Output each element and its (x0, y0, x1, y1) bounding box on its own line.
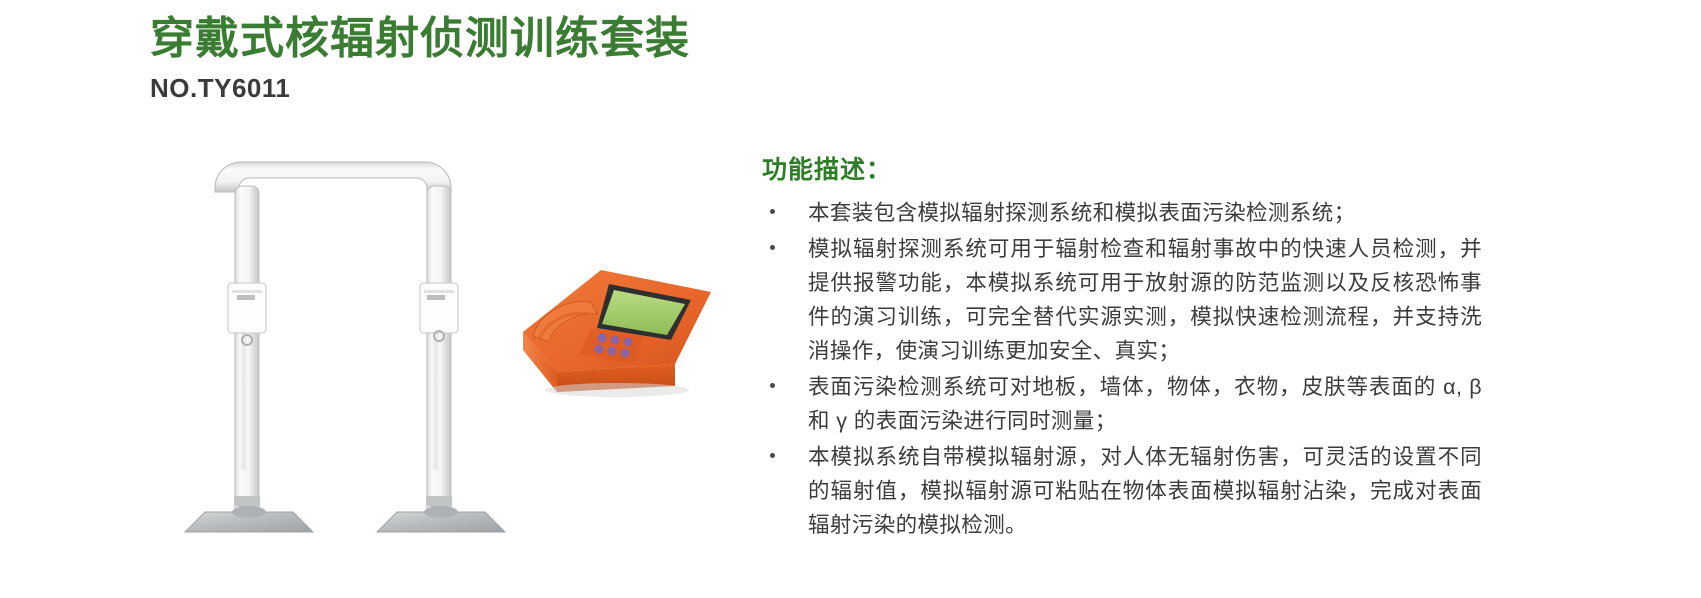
function-description-heading: 功能描述： (762, 150, 1482, 186)
gate-left-indicator (237, 295, 255, 300)
gate-left-base (185, 496, 313, 532)
list-item: 本套装包含模拟辐射探测系统和模拟表面污染检测系统； (762, 196, 1482, 230)
gate-left-pillar (235, 186, 259, 531)
gate-right-sensor-module (420, 283, 458, 333)
bullet-dot-icon (770, 383, 775, 388)
list-item: 模拟辐射探测系统可用于辐射检查和辐射事故中的快速人员检测，并提供报警功能，本模拟… (762, 232, 1482, 368)
function-description-block: 功能描述： 本套装包含模拟辐射探测系统和模拟表面污染检测系统； 模拟辐射探测系统… (762, 150, 1482, 544)
gate-right-pillar (427, 186, 451, 531)
gate-right-base (377, 496, 505, 532)
list-item-text: 本套装包含模拟辐射探测系统和模拟表面污染检测系统； (808, 201, 1356, 225)
list-item: 表面污染检测系统可对地板，墙体，物体，衣物，皮肤等表面的 α, β 和 γ 的表… (762, 370, 1482, 438)
list-item-text: 模拟辐射探测系统可用于辐射检查和辐射事故中的快速人员检测，并提供报警功能，本模拟… (808, 237, 1482, 363)
function-description-list: 本套装包含模拟辐射探测系统和模拟表面污染检测系统； 模拟辐射探测系统可用于辐射检… (762, 196, 1482, 542)
bullet-dot-icon (770, 209, 775, 214)
bullet-dot-icon (770, 453, 775, 458)
bullet-dot-icon (770, 245, 775, 250)
product-page: 穿戴式核辐射侦测训练套装 NO.TY6011 (0, 0, 1701, 598)
gate-left-sensor-module (228, 283, 266, 333)
gate-right-indicator (427, 295, 445, 300)
list-item-text: 表面污染检测系统可对地板，墙体，物体，衣物，皮肤等表面的 α, β 和 γ 的表… (808, 375, 1482, 433)
list-item-text: 本模拟系统自带模拟辐射源，对人体无辐射伤害，可灵活的设置不同的辐射值，模拟辐射源… (808, 445, 1482, 537)
list-item: 本模拟系统自带模拟辐射源，对人体无辐射伤害，可灵活的设置不同的辐射值，模拟辐射源… (762, 440, 1482, 542)
product-model-number: NO.TY6011 (150, 73, 690, 104)
detector-shadow (545, 383, 689, 397)
handheld-surface-contamination-detector-image (505, 240, 735, 400)
page-title: 穿戴式核辐射侦测训练套装 (150, 14, 690, 63)
page-header: 穿戴式核辐射侦测训练套装 NO.TY6011 (150, 14, 690, 104)
